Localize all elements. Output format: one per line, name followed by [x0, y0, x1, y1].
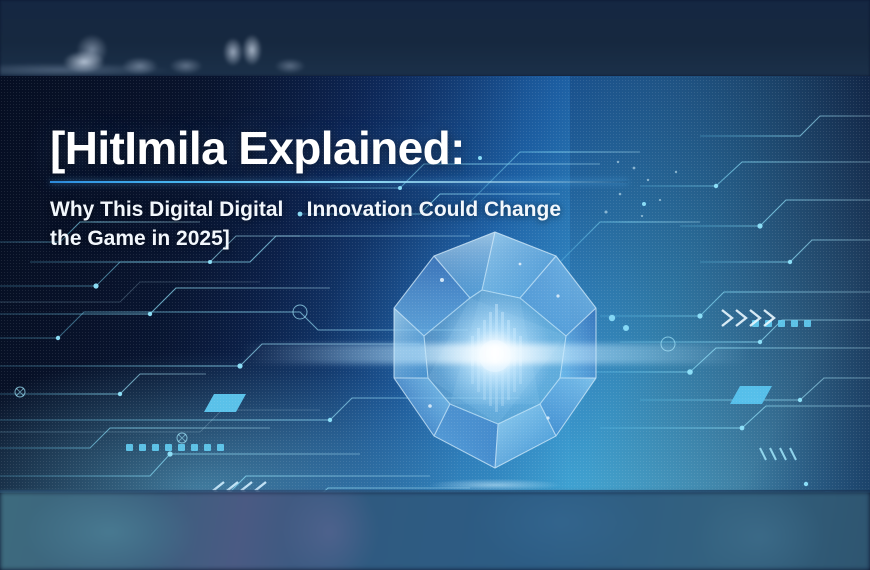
title-underline-accent: [50, 181, 628, 183]
bottom-blurred-strip: [0, 492, 870, 570]
banner-canvas: [HitImila Explained: Why This Digital Di…: [0, 76, 870, 492]
page-subtitle: Why This Digital Digital Innovation Coul…: [50, 195, 610, 253]
headline-block: [HitImila Explained: Why This Digital Di…: [50, 121, 630, 253]
page-title: [HitImila Explained:: [50, 121, 630, 175]
banner-image: [HitImila Explained: Why This Digital Di…: [0, 0, 870, 570]
top-blurred-text-strip: [0, 0, 870, 76]
